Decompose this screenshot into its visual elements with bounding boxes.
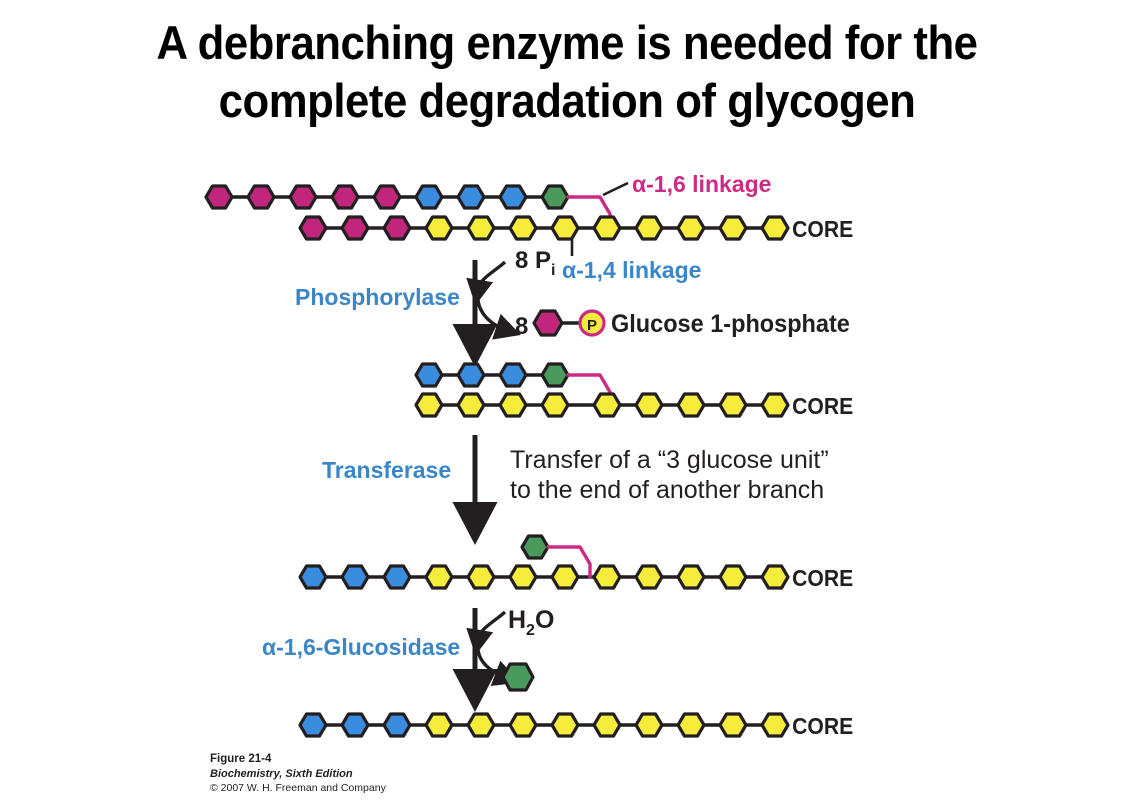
hexagon-yellow <box>510 714 536 736</box>
hexagon-yellow <box>762 394 788 416</box>
alpha-1-4-linkage-label: α-1,4 linkage <box>562 257 701 283</box>
hexagon-blue <box>416 186 442 208</box>
alpha-1-6-leader-line <box>603 183 628 195</box>
hexagon-blue <box>500 364 526 386</box>
hexagon-yellow <box>636 714 662 736</box>
hexagon-yellow <box>762 217 788 239</box>
product-curve-arrow <box>478 650 505 677</box>
hexagon-yellow <box>510 217 536 239</box>
hexagon-magenta <box>332 186 358 208</box>
glycogen-degradation-diagram: CORE α-1,6 linkage α-1,4 linkage Phospho… <box>0 150 1134 770</box>
hexagon-yellow <box>552 566 578 588</box>
hexagon-yellow <box>542 394 568 416</box>
phosphate-glyph-label: P <box>587 317 597 334</box>
hexagon-yellow <box>678 566 704 588</box>
hexagon-green <box>522 536 548 558</box>
hexagon-yellow <box>416 394 442 416</box>
title-line-1: A debranching enzyme is needed for the <box>40 14 1095 72</box>
product-curve-arrow <box>478 300 506 330</box>
glucosidase-label: α-1,6-Glucosidase <box>262 634 460 660</box>
hexagon-yellow <box>678 217 704 239</box>
core-label: CORE <box>792 713 853 739</box>
hexagon-yellow <box>426 714 452 736</box>
hexagon-yellow <box>426 217 452 239</box>
hexagon-yellow <box>468 566 494 588</box>
hexagon-yellow <box>468 217 494 239</box>
glucose-1-phosphate-label: Glucose 1-phosphate <box>611 310 850 338</box>
hexagon-magenta <box>342 217 368 239</box>
hexagon-yellow <box>594 566 620 588</box>
figure-caption: Figure 21-4 Biochemistry, Sixth Edition … <box>210 752 610 796</box>
core-label: CORE <box>792 393 853 419</box>
hexagon-yellow <box>552 714 578 736</box>
hexagon-blue <box>342 566 368 588</box>
hexagon-magenta <box>374 186 400 208</box>
transferase-label: Transferase <box>322 457 451 483</box>
hexagon-yellow <box>762 714 788 736</box>
hexagon-blue <box>500 186 526 208</box>
hexagon-yellow <box>636 394 662 416</box>
hexagon-yellow <box>552 217 578 239</box>
core-label: CORE <box>792 216 853 242</box>
hexagon-magenta <box>384 217 410 239</box>
reaction-glucosidase: α-1,6-Glucosidase H 2 O <box>262 606 554 690</box>
product-count-label: 8 <box>515 313 528 340</box>
hexagon-blue <box>342 714 368 736</box>
hexagon-magenta <box>534 311 562 335</box>
substrate-curve-arrow <box>478 262 505 290</box>
title-line-2: complete degradation of glycogen <box>40 72 1095 130</box>
figure-book-title: Biochemistry, Sixth Edition <box>210 767 610 782</box>
water-label-tail: O <box>535 606 554 634</box>
hexagon-magenta <box>206 186 232 208</box>
hexagon-blue <box>384 714 410 736</box>
branch-chain-hexagons <box>206 186 568 208</box>
transfer-description-line-1: Transfer of a “3 glucose unit” <box>510 446 829 474</box>
step-4-after-glucosidase: CORE <box>300 713 853 739</box>
hexagon-yellow <box>458 394 484 416</box>
hexagon-yellow <box>720 394 746 416</box>
hexagon-yellow <box>500 394 526 416</box>
alpha-1-6-linkage-label: α-1,6 linkage <box>632 171 771 197</box>
hexagon-blue <box>458 186 484 208</box>
hexagon-blue <box>458 364 484 386</box>
step-2-after-phosphorylase: CORE <box>416 364 853 419</box>
hexagon-yellow <box>594 714 620 736</box>
hexagon-magenta <box>248 186 274 208</box>
hexagon-green <box>503 664 533 690</box>
slide-canvas: A debranching enzyme is needed for the c… <box>0 0 1134 800</box>
reaction-transferase: Transferase Transfer of a “3 glucose uni… <box>322 435 829 518</box>
hexagon-yellow <box>636 217 662 239</box>
hexagon-yellow <box>636 566 662 588</box>
hexagon-yellow <box>720 566 746 588</box>
water-subscript: 2 <box>526 622 535 639</box>
hexagon-green <box>542 186 568 208</box>
transfer-description-line-2: to the end of another branch <box>510 476 824 504</box>
main-chain-hexagons <box>416 394 788 416</box>
figure-number: Figure 21-4 <box>210 752 610 767</box>
substrate-curve-arrow <box>478 612 505 640</box>
pi-substrate-label: 8 P <box>515 247 551 274</box>
hexagon-yellow <box>720 714 746 736</box>
hexagon-yellow <box>468 714 494 736</box>
hexagon-blue <box>300 714 326 736</box>
core-label: CORE <box>792 565 853 591</box>
hexagon-yellow <box>678 714 704 736</box>
hexagon-yellow <box>594 217 620 239</box>
hexagon-green <box>542 364 568 386</box>
page-title: A debranching enzyme is needed for the c… <box>40 14 1095 131</box>
hexagon-yellow <box>762 566 788 588</box>
hexagon-yellow <box>426 566 452 588</box>
hexagon-yellow <box>594 394 620 416</box>
figure-copyright: © 2007 W. H. Freeman and Company <box>210 782 610 796</box>
hexagon-yellow <box>510 566 536 588</box>
hexagon-blue <box>416 364 442 386</box>
step-3-after-transferase: CORE <box>300 536 853 591</box>
hexagon-yellow <box>678 394 704 416</box>
water-label: H <box>508 606 526 634</box>
hexagon-blue <box>300 566 326 588</box>
hexagon-yellow <box>720 217 746 239</box>
hexagon-blue <box>384 566 410 588</box>
hexagon-magenta <box>290 186 316 208</box>
phosphorylase-label: Phosphorylase <box>295 284 460 310</box>
hexagon-magenta <box>300 217 326 239</box>
pi-subscript: i <box>551 262 555 279</box>
